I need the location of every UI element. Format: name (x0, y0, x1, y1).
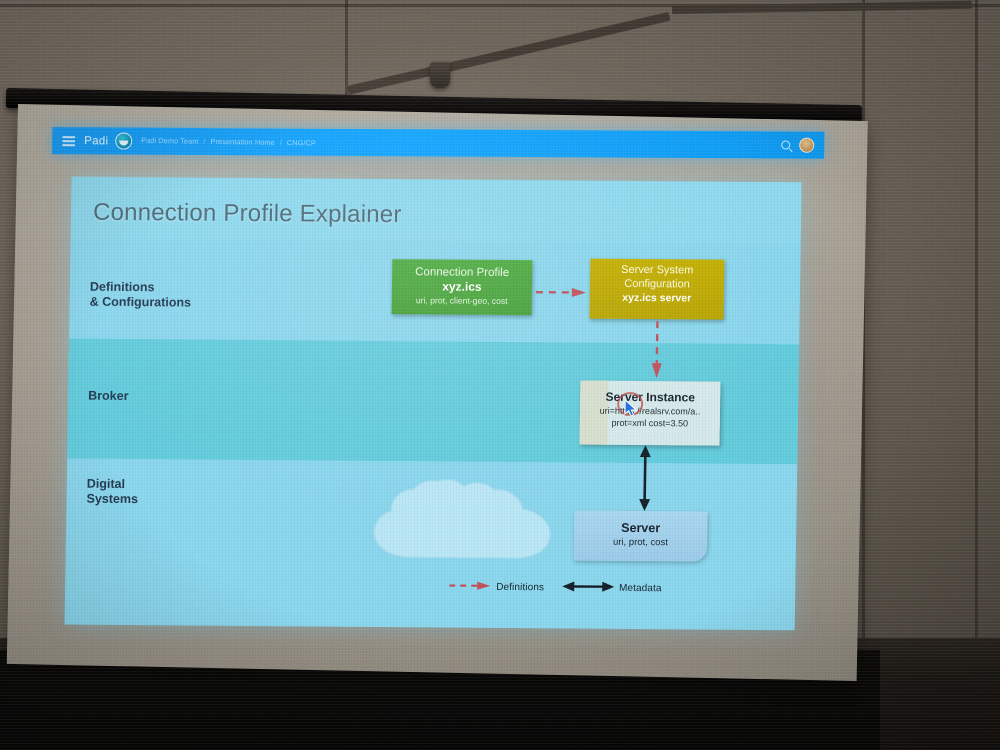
swimlane-label-digital-systems: Digital Systems (86, 477, 138, 507)
legend-label-definitions: Definitions (496, 582, 544, 593)
user-avatar-icon[interactable] (799, 138, 814, 153)
room-photograph: Padi Padi Demo Team / Presentation Home … (0, 0, 1000, 750)
double-arrow-icon (562, 580, 614, 595)
brand-name: Padi (84, 135, 108, 147)
node-server[interactable]: Server uri, prot, cost (574, 511, 708, 562)
breadcrumb-item-team[interactable]: Padi Demo Team (141, 136, 198, 146)
node-attributes: uri, prot, cost (574, 536, 707, 550)
hamburger-menu-icon[interactable] (62, 136, 75, 146)
cloud-shape (366, 479, 563, 565)
app-top-bar: Padi Padi Demo Team / Presentation Home … (52, 127, 824, 159)
breadcrumb: Padi Demo Team / Presentation Home / CNG… (141, 136, 316, 148)
node-identifier: xyz.ics server (590, 291, 724, 306)
projected-application: Padi Padi Demo Team / Presentation Home … (44, 123, 824, 663)
swimlane-label-broker: Broker (88, 389, 129, 404)
search-icon[interactable] (781, 140, 790, 149)
legend: Definitions Metadata (449, 580, 662, 597)
dashed-arrow-icon (449, 581, 491, 594)
page-title: Connection Profile Explainer (93, 199, 402, 229)
node-title-line-1: Server System (590, 264, 724, 279)
breadcrumb-separator: / (204, 137, 206, 146)
padi-logo-icon[interactable] (115, 132, 132, 149)
mouse-cursor-icon (624, 400, 638, 416)
node-connection-profile[interactable]: Connection Profile xyz.ics uri, prot, cl… (392, 259, 533, 315)
node-title: Connection Profile (392, 265, 532, 280)
breadcrumb-item-cng-cp[interactable]: CNG/CP (287, 138, 316, 147)
swimlane-label-definitions: Definitions & Configurations (90, 280, 192, 311)
arrow-metadata-vertical (636, 445, 653, 511)
breadcrumb-item-presentation-home[interactable]: Presentation Home (211, 137, 275, 147)
wall-seam (975, 0, 978, 700)
legend-label-metadata: Metadata (619, 583, 662, 594)
node-identifier: xyz.ics (392, 279, 532, 295)
node-protocol-cost: prot=xml cost=3.50 (580, 417, 720, 430)
node-title: Server (574, 521, 707, 537)
node-title: Server Instance (580, 390, 720, 406)
node-uri: uri=https://realsrv.com/a.. (580, 405, 720, 418)
legend-item-definitions: Definitions (449, 581, 544, 595)
ceiling-rail (672, 1, 972, 14)
breadcrumb-separator: / (280, 138, 282, 147)
app-bar-actions (781, 137, 814, 153)
node-title-line-2: Configuration (590, 277, 724, 292)
arrow-definitions-horizontal (536, 284, 588, 294)
legend-item-metadata: Metadata (562, 580, 662, 596)
slide-canvas: Connection Profile Explainer Definitions… (65, 177, 802, 631)
arrow-definitions-vertical (651, 321, 664, 379)
node-attributes: uri, prot, client-geo, cost (392, 294, 532, 307)
node-server-system-configuration[interactable]: Server System Configuration xyz.ics serv… (589, 259, 724, 320)
projector-screen: Padi Padi Demo Team / Presentation Home … (7, 104, 868, 681)
node-server-instance[interactable]: Server Instance uri=https://realsrv.com/… (579, 381, 720, 446)
projector-mount (430, 62, 450, 88)
ceiling-rail (347, 12, 671, 95)
